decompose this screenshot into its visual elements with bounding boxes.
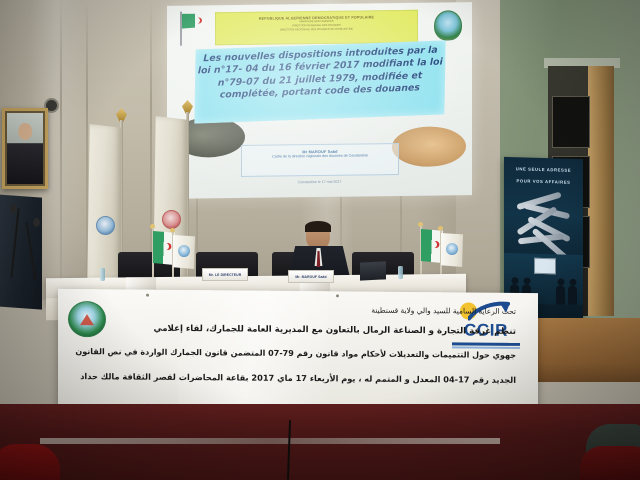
slide-title-box: Les nouvelles dispositions introduites p… [194, 40, 445, 123]
presidential-portrait [2, 108, 48, 189]
water-bottle-1 [398, 266, 403, 279]
speaker-hair [305, 221, 331, 232]
slide-title-text: Les nouvelles dispositions introduites p… [195, 40, 446, 103]
main-event-banner: CCIR تحت الرعاية السامية للسيد والي ولاي… [58, 289, 538, 415]
wilaya-constantine-logo-icon [68, 301, 106, 337]
curtain-fold-1 [60, 0, 62, 300]
ccir-emblem-icon [162, 210, 181, 229]
slide-presenter-title: Cadre de la direction régionale des doua… [242, 153, 398, 160]
rollup-tagline-2: POUR VOS AFFAIRES [504, 178, 583, 185]
stage-trim-strip [40, 438, 500, 444]
rollup-tagline-1: UNE SEULE ADRESSE [504, 166, 583, 173]
door-frame [588, 66, 614, 316]
audience-chair-right [580, 446, 640, 480]
ccir-flag-cloth [173, 235, 195, 269]
slide-date: Constantine le 17 mai 2017 [167, 178, 472, 186]
banner-grommet-2 [336, 294, 339, 297]
microphone-head-1 [10, 204, 17, 213]
nameplate-left: Mr. LE DIRECTEUR [202, 268, 248, 281]
ccir-flag-cloth-2 [441, 233, 463, 267]
audience-chair-left [0, 444, 60, 480]
ccir-rule-thick [452, 342, 520, 346]
door-panel-top [552, 96, 590, 148]
projected-slide: REPUBLIQUE ALGERIENNE DEMOCRATIQUE ET PO… [167, 2, 472, 199]
laptop-device[interactable] [360, 261, 386, 280]
ccir-rule-thin [452, 346, 520, 348]
wilaya-emblem-icon [96, 216, 115, 235]
nameplate-center: Mr. MAROUF Saâd [288, 270, 334, 283]
slide-photo-right [392, 126, 466, 167]
signpost-icon [512, 191, 575, 255]
rollup-screen-graphic [534, 258, 556, 275]
slide-header-block: REPUBLIQUE ALGERIENNE DEMOCRATIQUE ET PO… [215, 10, 418, 45]
banner-grommet-1 [146, 294, 149, 297]
speaking-podium [0, 194, 42, 309]
slide-presenter-box: Mr MAROUF Saâd Cadre de la direction rég… [241, 143, 399, 177]
water-bottle-2 [100, 268, 105, 281]
banner-line-4: الجديد رقم 17-04 المعدل و المتمم له ، يو… [74, 371, 516, 385]
algeria-flag-icon [179, 11, 213, 45]
microphone-head-2 [33, 218, 40, 227]
conference-room-photo: REPUBLIQUE ALGERIENNE DEMOCRATIQUE ET PO… [0, 0, 640, 480]
customs-emblem-icon [434, 10, 462, 40]
